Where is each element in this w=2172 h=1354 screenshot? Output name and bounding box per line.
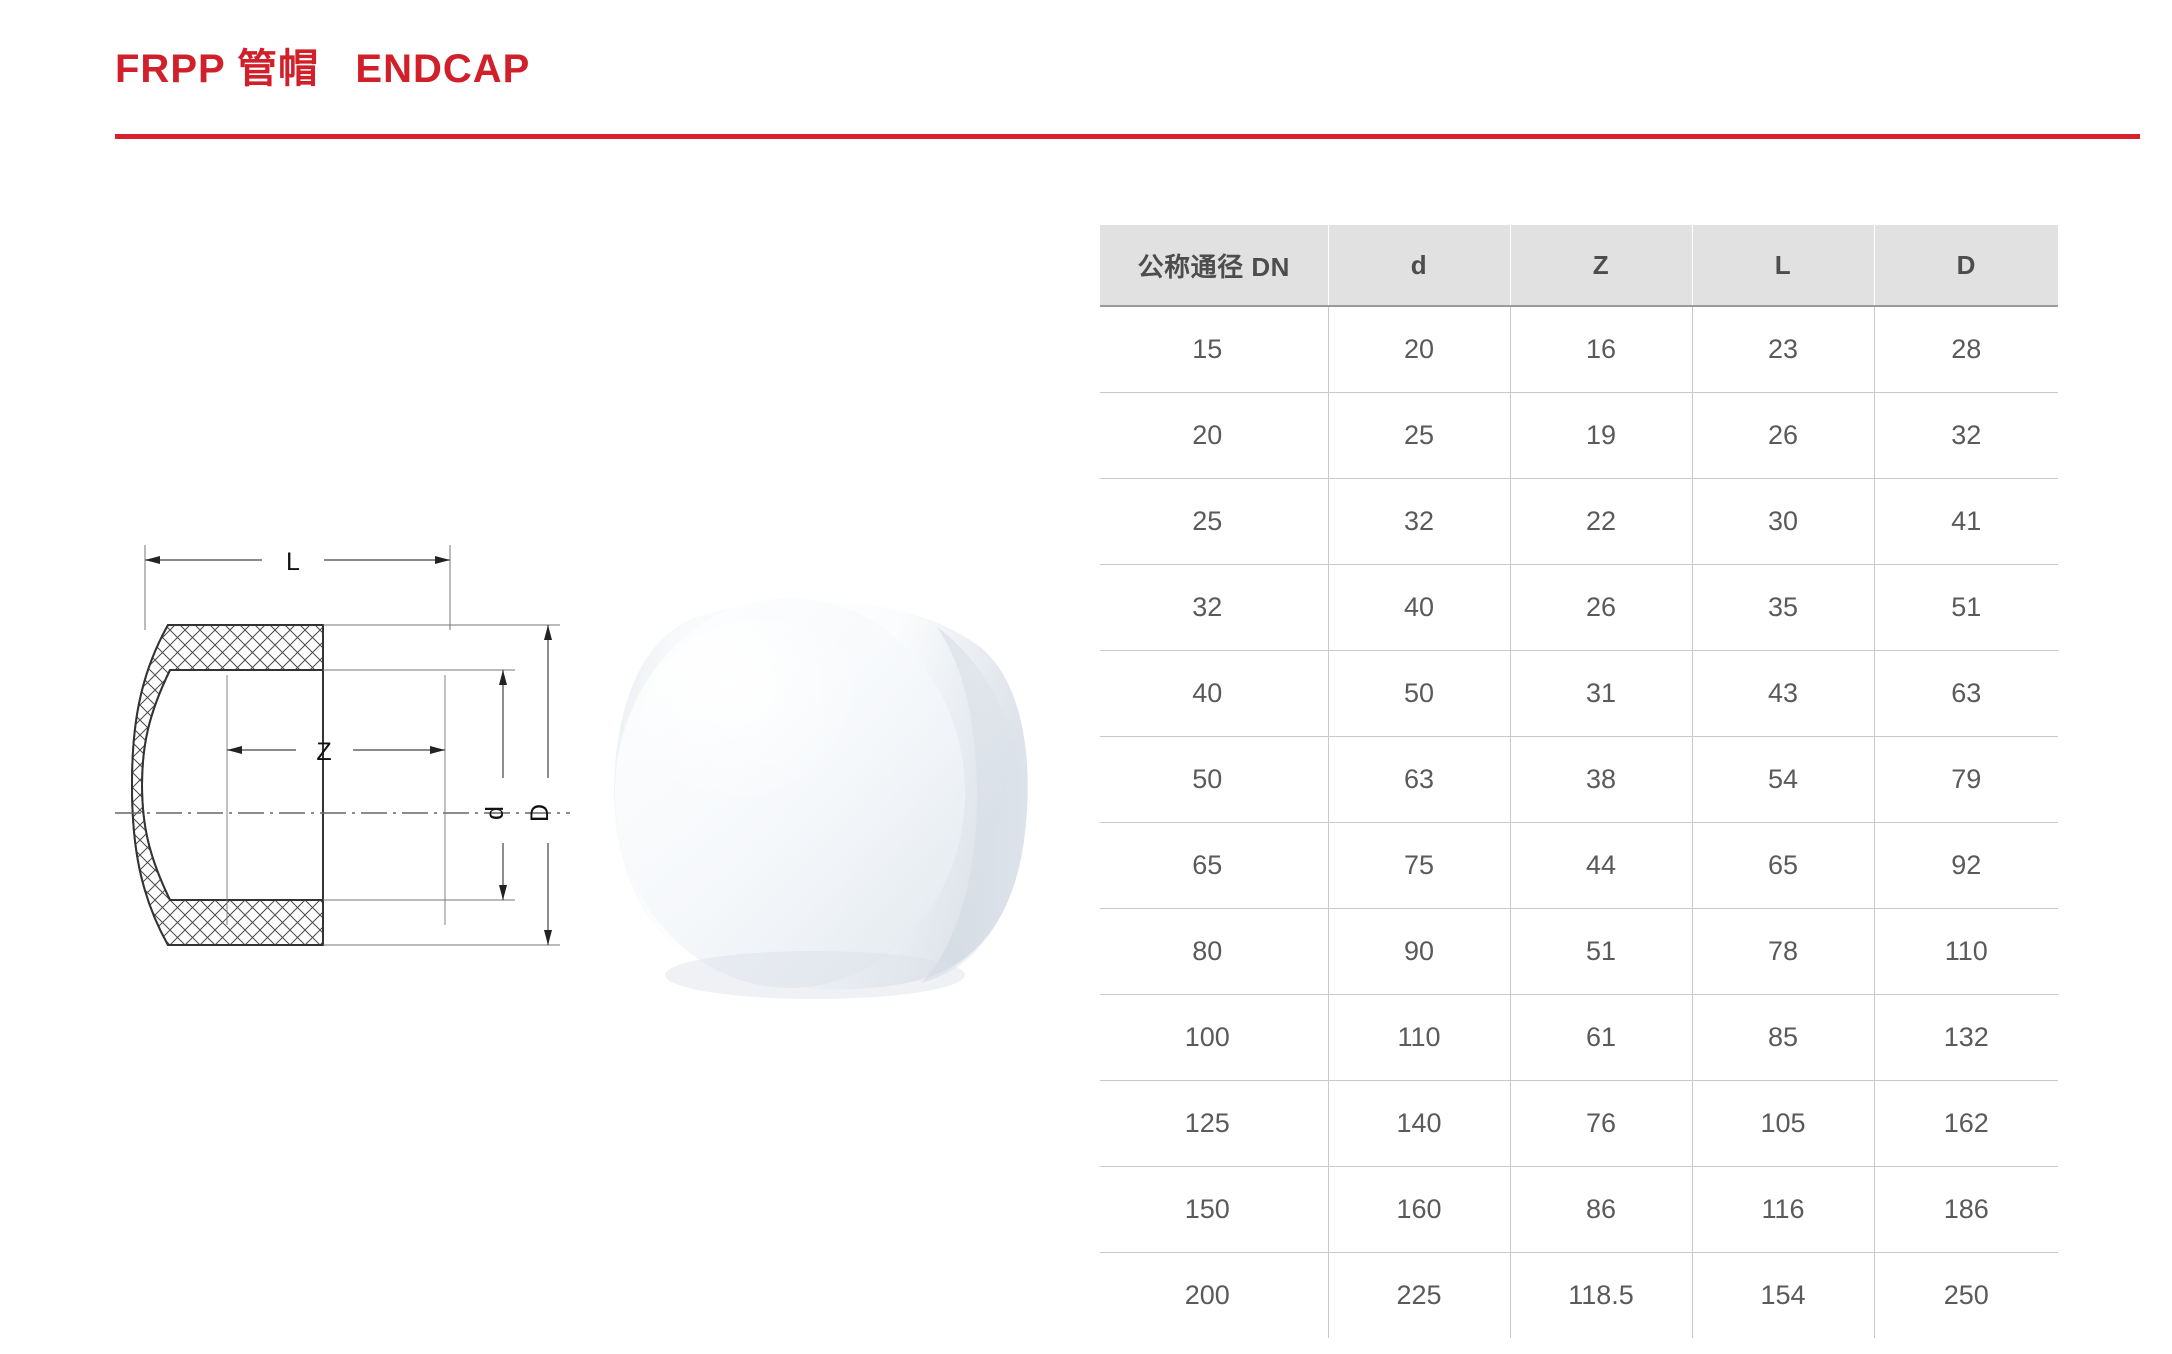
cell-value: 32 bbox=[1328, 479, 1510, 565]
column-header-z: Z bbox=[1510, 225, 1692, 306]
table-row: 80905178110 bbox=[1100, 909, 2058, 995]
cell-value: 63 bbox=[1328, 737, 1510, 823]
table-row: 1520162328 bbox=[1100, 306, 2058, 393]
page-title: FRPP 管帽 ENDCAP bbox=[115, 46, 2140, 92]
table-row: 15016086116186 bbox=[1100, 1167, 2058, 1253]
cell-value: 51 bbox=[1510, 909, 1692, 995]
cell-value: 61 bbox=[1510, 995, 1692, 1081]
cell-dn: 40 bbox=[1100, 651, 1328, 737]
table-header-row: 公称通径 DN d Z L D bbox=[1100, 225, 2058, 306]
cell-value: 79 bbox=[1874, 737, 2058, 823]
cell-value: 75 bbox=[1328, 823, 1510, 909]
dimension-label-d: d bbox=[481, 806, 509, 820]
page-header: FRPP 管帽 ENDCAP bbox=[115, 46, 2140, 92]
cell-value: 250 bbox=[1874, 1253, 2058, 1339]
cell-dn: 200 bbox=[1100, 1253, 1328, 1339]
table-row: 12514076105162 bbox=[1100, 1081, 2058, 1167]
table-row: 4050314363 bbox=[1100, 651, 2058, 737]
endcap-product-photo bbox=[585, 575, 1055, 1005]
cell-value: 23 bbox=[1692, 306, 1874, 393]
dimension-label-Z: Z bbox=[316, 738, 331, 766]
cell-value: 65 bbox=[1692, 823, 1874, 909]
cell-value: 16 bbox=[1510, 306, 1692, 393]
column-header-l: L bbox=[1692, 225, 1874, 306]
cell-dn: 20 bbox=[1100, 393, 1328, 479]
cell-value: 162 bbox=[1874, 1081, 2058, 1167]
table-row: 3240263551 bbox=[1100, 565, 2058, 651]
cell-value: 30 bbox=[1692, 479, 1874, 565]
cell-value: 78 bbox=[1692, 909, 1874, 995]
cell-value: 118.5 bbox=[1510, 1253, 1692, 1339]
cell-value: 26 bbox=[1692, 393, 1874, 479]
dimension-label-D: D bbox=[526, 804, 554, 822]
endcap-cross-section-drawing: L Z d D bbox=[110, 525, 630, 1045]
table-row: 200225118.5154250 bbox=[1100, 1253, 2058, 1339]
table-row: 1001106185132 bbox=[1100, 995, 2058, 1081]
title-divider-rule bbox=[115, 134, 2140, 139]
cell-value: 41 bbox=[1874, 479, 2058, 565]
cell-dn: 15 bbox=[1100, 306, 1328, 393]
table-row: 2025192632 bbox=[1100, 393, 2058, 479]
cell-value: 154 bbox=[1692, 1253, 1874, 1339]
cell-value: 44 bbox=[1510, 823, 1692, 909]
cell-dn: 100 bbox=[1100, 995, 1328, 1081]
cell-value: 40 bbox=[1328, 565, 1510, 651]
cell-value: 31 bbox=[1510, 651, 1692, 737]
cell-dn: 80 bbox=[1100, 909, 1328, 995]
cell-value: 25 bbox=[1328, 393, 1510, 479]
column-header-D: D bbox=[1874, 225, 2058, 306]
specification-table: 公称通径 DN d Z L D 152016232820251926322532… bbox=[1100, 225, 2058, 1338]
cell-dn: 65 bbox=[1100, 823, 1328, 909]
cell-value: 63 bbox=[1874, 651, 2058, 737]
cell-value: 38 bbox=[1510, 737, 1692, 823]
cell-dn: 150 bbox=[1100, 1167, 1328, 1253]
cell-value: 160 bbox=[1328, 1167, 1510, 1253]
cell-value: 110 bbox=[1874, 909, 2058, 995]
cell-value: 22 bbox=[1510, 479, 1692, 565]
cell-value: 54 bbox=[1692, 737, 1874, 823]
cell-dn: 125 bbox=[1100, 1081, 1328, 1167]
cell-value: 92 bbox=[1874, 823, 2058, 909]
table-row: 2532223041 bbox=[1100, 479, 2058, 565]
dimension-label-L: L bbox=[286, 548, 300, 576]
cell-value: 132 bbox=[1874, 995, 2058, 1081]
column-header-dn: 公称通径 DN bbox=[1100, 225, 1328, 306]
cell-value: 140 bbox=[1328, 1081, 1510, 1167]
cell-value: 50 bbox=[1328, 651, 1510, 737]
cell-value: 105 bbox=[1692, 1081, 1874, 1167]
table-row: 6575446592 bbox=[1100, 823, 2058, 909]
cell-value: 116 bbox=[1692, 1167, 1874, 1253]
cell-value: 19 bbox=[1510, 393, 1692, 479]
cell-dn: 25 bbox=[1100, 479, 1328, 565]
cell-value: 26 bbox=[1510, 565, 1692, 651]
cell-value: 35 bbox=[1692, 565, 1874, 651]
column-header-d: d bbox=[1328, 225, 1510, 306]
cell-value: 20 bbox=[1328, 306, 1510, 393]
cell-value: 110 bbox=[1328, 995, 1510, 1081]
cell-value: 28 bbox=[1874, 306, 2058, 393]
cell-value: 51 bbox=[1874, 565, 2058, 651]
table-row: 5063385479 bbox=[1100, 737, 2058, 823]
cell-value: 90 bbox=[1328, 909, 1510, 995]
cell-value: 32 bbox=[1874, 393, 2058, 479]
cell-value: 43 bbox=[1692, 651, 1874, 737]
cell-value: 85 bbox=[1692, 995, 1874, 1081]
cell-value: 86 bbox=[1510, 1167, 1692, 1253]
cell-value: 225 bbox=[1328, 1253, 1510, 1339]
specification-table-container: 公称通径 DN d Z L D 152016232820251926322532… bbox=[1100, 225, 2058, 1338]
cell-dn: 50 bbox=[1100, 737, 1328, 823]
cell-value: 186 bbox=[1874, 1167, 2058, 1253]
cell-value: 76 bbox=[1510, 1081, 1692, 1167]
cell-dn: 32 bbox=[1100, 565, 1328, 651]
